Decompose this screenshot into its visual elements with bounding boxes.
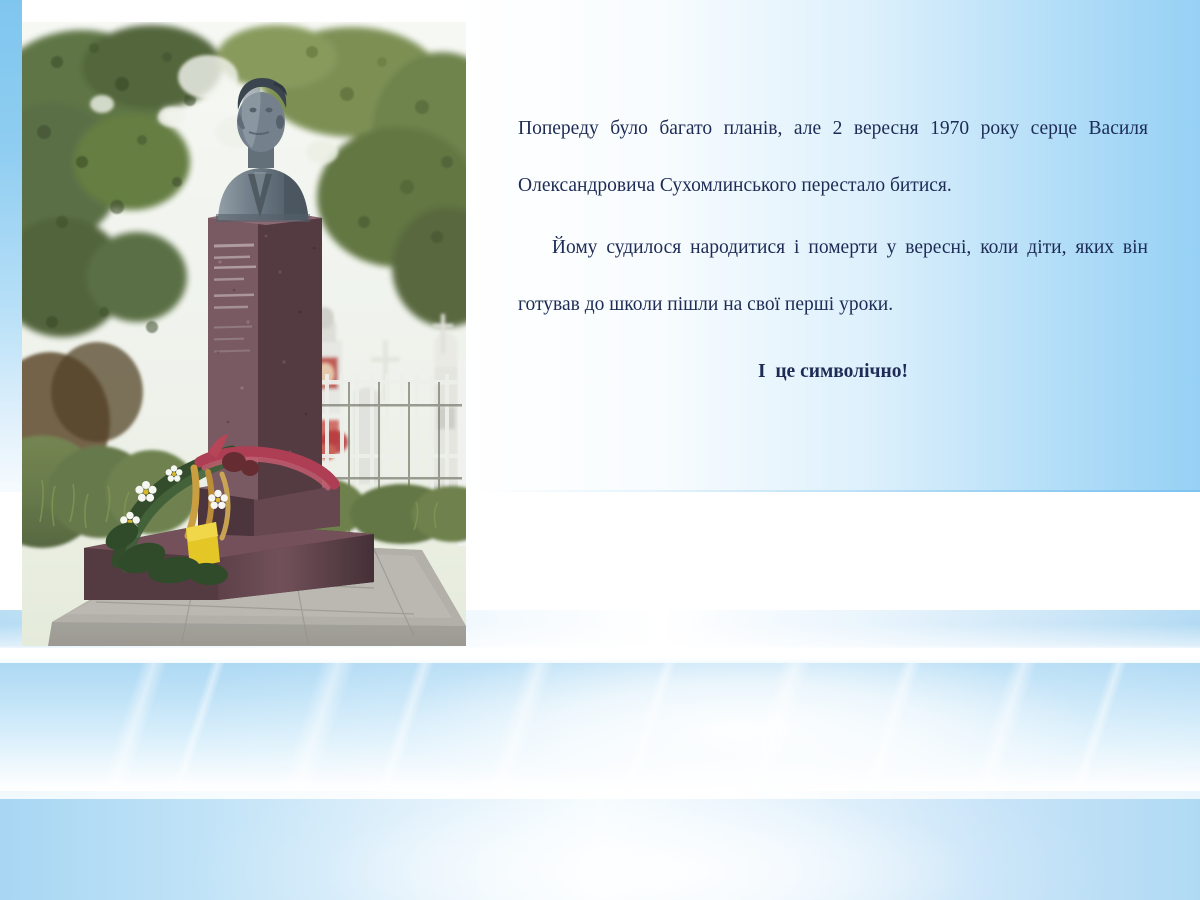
background-band-white-gap [0, 648, 1200, 664]
slide-text-block: Попереду було багато планів, але 2 верес… [518, 100, 1148, 400]
paragraph-two: Йому судилося народитися і померти у вер… [518, 219, 1148, 333]
monument-photo [22, 22, 466, 646]
paragraph-one: Попереду було багато планів, але 2 верес… [518, 100, 1148, 214]
background-band-bottom [0, 799, 1200, 900]
background-light-streaks [0, 663, 1200, 791]
background-left-stripe [0, 0, 22, 492]
paragraph-conclusion: І це символічно! [518, 343, 1148, 400]
slide: Попереду було багато планів, але 2 верес… [0, 0, 1200, 900]
